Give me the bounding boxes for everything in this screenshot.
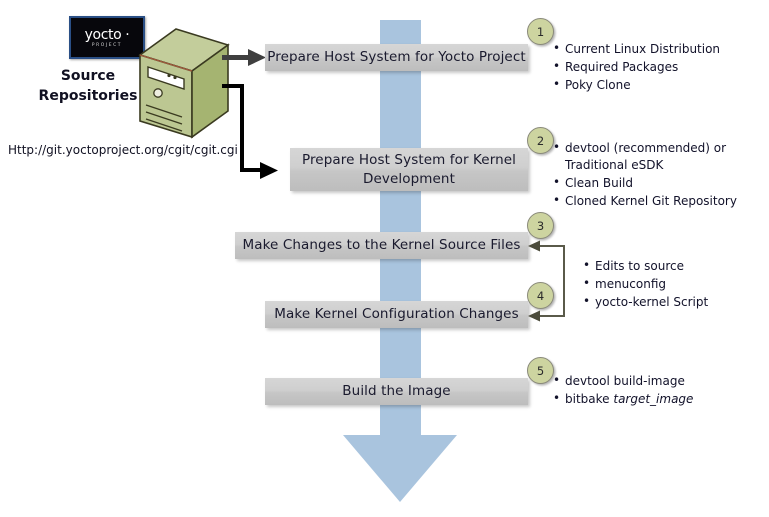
list-item: yocto-kernel Script bbox=[583, 294, 763, 311]
step-number-label: 5 bbox=[537, 364, 544, 378]
list-item: Edits to source bbox=[583, 258, 763, 275]
bracket-connector-bottom-branch bbox=[538, 315, 565, 317]
process-box-label: Make Changes to the Kernel Source Files bbox=[242, 236, 520, 254]
source-title-line-1: Source bbox=[33, 66, 143, 86]
step-number-label: 2 bbox=[537, 134, 544, 148]
list-item: Current Linux Distribution bbox=[553, 41, 763, 58]
process-box-build-image[interactable]: Build the Image bbox=[265, 378, 528, 405]
bitbake-command-prefix: bitbake bbox=[565, 392, 613, 406]
flow-arrow-shaft bbox=[380, 20, 421, 437]
steps-3-4-shared-bullet-list: Edits to source menuconfig yocto-kernel … bbox=[583, 258, 763, 312]
list-item: menuconfig bbox=[583, 276, 763, 293]
yocto-logo-subtext: PROJECT bbox=[92, 44, 122, 48]
step-number-3: 3 bbox=[527, 212, 554, 239]
flow-arrow-head bbox=[343, 435, 457, 502]
source-title-line-2: Repositories bbox=[33, 86, 143, 106]
process-box-label: Prepare Host System for Kernel Developme… bbox=[290, 151, 528, 187]
list-item: devtool (recommended) or Traditional eSD… bbox=[553, 140, 768, 174]
yocto-logo-wordmark: yocto · bbox=[85, 28, 130, 42]
bitbake-target-image-param: target_image bbox=[613, 392, 693, 406]
connector-server-to-step2-arrowhead bbox=[260, 161, 280, 181]
source-repository-url: Http://git.yoctoproject.org/cgit/cgit.cg… bbox=[8, 143, 238, 157]
list-item: Poky Clone bbox=[553, 77, 763, 94]
process-box-prepare-host-kernel[interactable]: Prepare Host System for Kernel Developme… bbox=[290, 148, 528, 191]
step-number-label: 3 bbox=[537, 219, 544, 233]
list-item: devtool build-image bbox=[553, 373, 753, 390]
bracket-connector-top-branch bbox=[538, 245, 565, 247]
connector-server-to-step2-vertical bbox=[240, 84, 244, 172]
step-number-1: 1 bbox=[527, 18, 554, 45]
list-item: Cloned Kernel Git Repository bbox=[553, 193, 768, 210]
bracket-connector-bottom-arrowhead bbox=[528, 310, 542, 323]
server-tower-icon bbox=[136, 27, 232, 140]
list-item: Clean Build bbox=[553, 175, 768, 192]
step-number-label: 4 bbox=[537, 289, 544, 303]
bracket-connector-vertical bbox=[563, 245, 565, 317]
workflow-diagram: yocto · PROJECT Source Repositories Http… bbox=[0, 0, 769, 517]
step-1-bullet-list: Current Linux Distribution Required Pack… bbox=[553, 41, 763, 95]
process-box-label: Build the Image bbox=[342, 382, 450, 400]
process-box-prepare-host-yocto[interactable]: Prepare Host System for Yocto Project bbox=[265, 44, 528, 71]
bracket-connector-top-arrowhead bbox=[528, 240, 542, 253]
step-2-bullet-list: devtool (recommended) or Traditional eSD… bbox=[553, 140, 768, 211]
step-number-5: 5 bbox=[527, 357, 554, 384]
source-repositories-title: Source Repositories bbox=[33, 66, 143, 107]
process-box-make-kernel-source-changes[interactable]: Make Changes to the Kernel Source Files bbox=[235, 232, 528, 259]
process-box-label: Make Kernel Configuration Changes bbox=[274, 305, 518, 323]
yocto-project-logo: yocto · PROJECT bbox=[69, 16, 145, 59]
step-number-label: 1 bbox=[537, 25, 544, 39]
process-box-label: Prepare Host System for Yocto Project bbox=[267, 48, 526, 66]
process-box-make-kernel-config-changes[interactable]: Make Kernel Configuration Changes bbox=[265, 301, 528, 328]
step-number-2: 2 bbox=[527, 127, 554, 154]
list-item: Required Packages bbox=[553, 59, 763, 76]
step-number-4: 4 bbox=[527, 282, 554, 309]
step-5-bullet-list: devtool build-image bitbake target_image bbox=[553, 373, 753, 409]
list-item: bitbake target_image bbox=[553, 391, 753, 408]
